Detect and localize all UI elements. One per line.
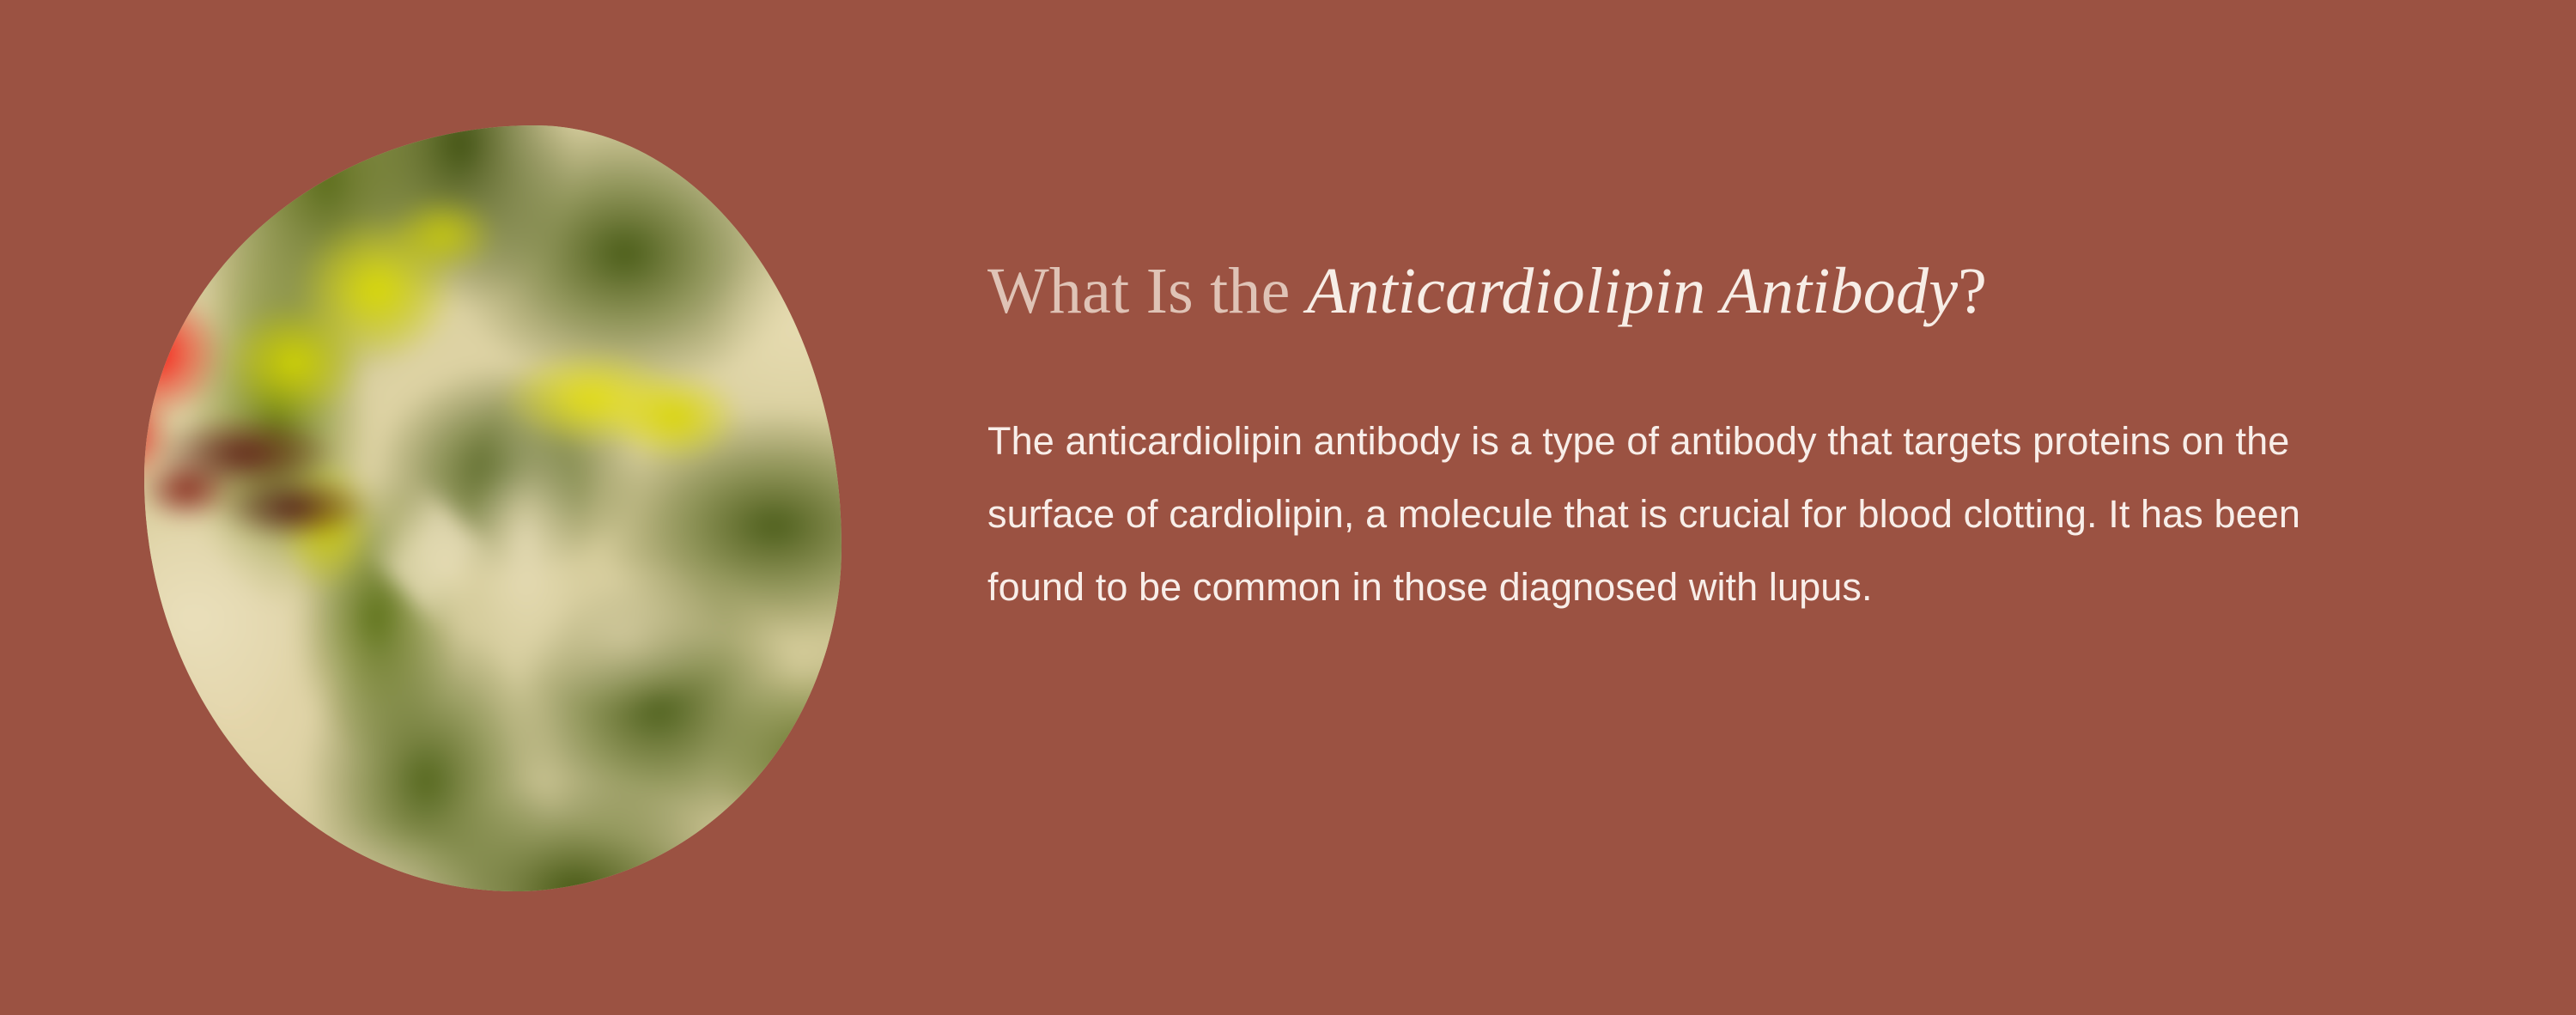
- body-paragraph: The anticardiolipin antibody is a type o…: [987, 325, 2336, 623]
- page-title-punctuation: ?: [1958, 255, 1987, 327]
- article-image-blob: [144, 125, 841, 891]
- page-title-lead: What Is the: [987, 255, 1307, 327]
- info-card: What Is the Anticardiolipin Antibody? Th…: [0, 0, 2576, 1015]
- page-title: What Is the Anticardiolipin Antibody?: [987, 258, 2361, 325]
- abstract-paint-photo: [144, 125, 841, 891]
- page-title-term: Anticardiolipin Antibody: [1307, 255, 1958, 327]
- photo-vignette: [144, 125, 841, 891]
- text-column: What Is the Anticardiolipin Antibody? Th…: [987, 258, 2361, 623]
